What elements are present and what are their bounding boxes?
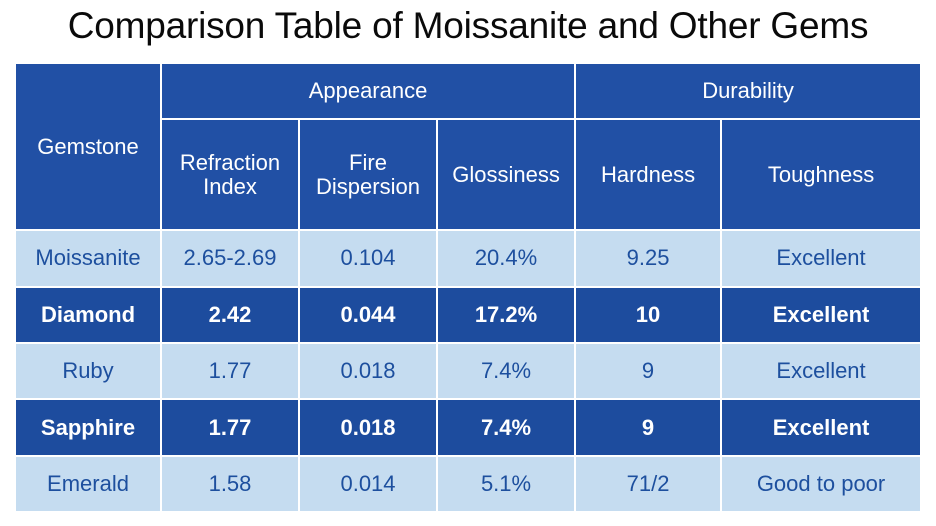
comparison-table-container: Gemstone Appearance Durability Refractio… xyxy=(14,62,908,513)
cell-gemstone-name: Ruby xyxy=(16,344,160,398)
header-refraction-index-line1: Refraction xyxy=(180,150,280,175)
cell-toughness: Excellent xyxy=(722,288,920,342)
cell-gemstone-name: Emerald xyxy=(16,457,160,511)
cell-fire-dispersion: 0.018 xyxy=(300,400,436,454)
cell-fire-dispersion: 0.018 xyxy=(300,344,436,398)
cell-hardness: 9.25 xyxy=(576,231,720,285)
table-row: Ruby 1.77 0.018 7.4% 9 Excellent xyxy=(16,344,920,398)
cell-toughness: Good to poor xyxy=(722,457,920,511)
table-row: Moissanite 2.65-2.69 0.104 20.4% 9.25 Ex… xyxy=(16,231,920,285)
cell-toughness: Excellent xyxy=(722,344,920,398)
cell-hardness: 9 xyxy=(576,344,720,398)
header-fire-dispersion: Fire Dispersion xyxy=(300,120,436,229)
cell-refraction-index: 1.58 xyxy=(162,457,298,511)
cell-hardness: 71/2 xyxy=(576,457,720,511)
table-row: Emerald 1.58 0.014 5.1% 71/2 Good to poo… xyxy=(16,457,920,511)
cell-hardness: 10 xyxy=(576,288,720,342)
header-group-durability: Durability xyxy=(576,64,920,118)
header-gemstone: Gemstone xyxy=(16,64,160,229)
header-toughness: Toughness xyxy=(722,120,920,229)
cell-refraction-index: 1.77 xyxy=(162,344,298,398)
comparison-table: Gemstone Appearance Durability Refractio… xyxy=(14,62,922,513)
page-title: Comparison Table of Moissanite and Other… xyxy=(0,0,936,56)
comparison-table-page: Comparison Table of Moissanite and Other… xyxy=(0,0,936,526)
cell-glossiness: 17.2% xyxy=(438,288,574,342)
table-row: Sapphire 1.77 0.018 7.4% 9 Excellent xyxy=(16,400,920,454)
header-glossiness: Glossiness xyxy=(438,120,574,229)
cell-hardness: 9 xyxy=(576,400,720,454)
header-refraction-index: Refraction Index xyxy=(162,120,298,229)
cell-glossiness: 5.1% xyxy=(438,457,574,511)
table-header-group-row: Gemstone Appearance Durability xyxy=(16,64,920,118)
cell-glossiness: 7.4% xyxy=(438,344,574,398)
header-refraction-index-line2: Index xyxy=(203,174,257,199)
cell-gemstone-name: Moissanite xyxy=(16,231,160,285)
cell-glossiness: 20.4% xyxy=(438,231,574,285)
cell-fire-dispersion: 0.044 xyxy=(300,288,436,342)
table-row: Diamond 2.42 0.044 17.2% 10 Excellent xyxy=(16,288,920,342)
header-fire-dispersion-line2: Dispersion xyxy=(316,174,420,199)
cell-gemstone-name: Sapphire xyxy=(16,400,160,454)
cell-fire-dispersion: 0.014 xyxy=(300,457,436,511)
cell-fire-dispersion: 0.104 xyxy=(300,231,436,285)
cell-glossiness: 7.4% xyxy=(438,400,574,454)
header-hardness: Hardness xyxy=(576,120,720,229)
cell-gemstone-name: Diamond xyxy=(16,288,160,342)
header-fire-dispersion-line1: Fire xyxy=(349,150,387,175)
header-group-appearance: Appearance xyxy=(162,64,574,118)
cell-toughness: Excellent xyxy=(722,231,920,285)
cell-toughness: Excellent xyxy=(722,400,920,454)
cell-refraction-index: 1.77 xyxy=(162,400,298,454)
cell-refraction-index: 2.42 xyxy=(162,288,298,342)
cell-refraction-index: 2.65-2.69 xyxy=(162,231,298,285)
